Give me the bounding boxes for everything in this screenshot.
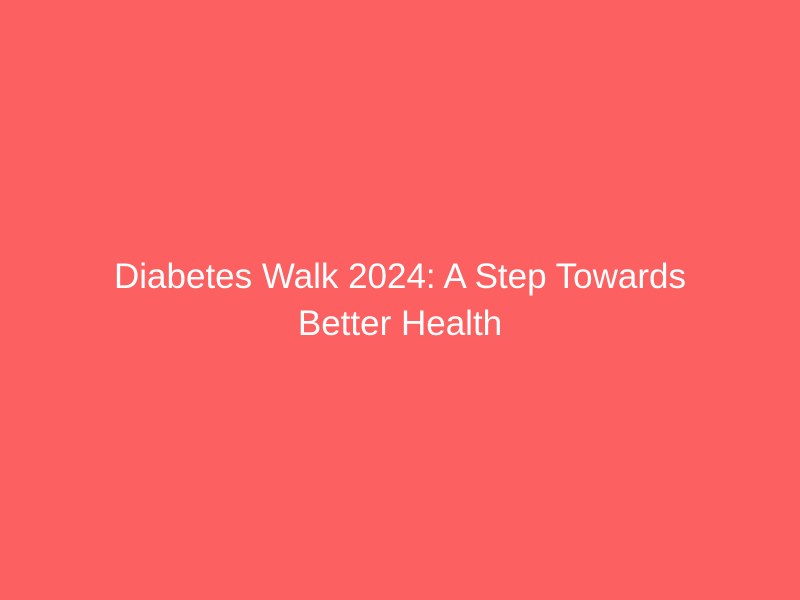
page-title: Diabetes Walk 2024: A Step Towards Bette… [80, 253, 720, 347]
page-root: Diabetes Walk 2024: A Step Towards Bette… [0, 0, 800, 600]
hero-banner: Diabetes Walk 2024: A Step Towards Bette… [0, 253, 800, 347]
